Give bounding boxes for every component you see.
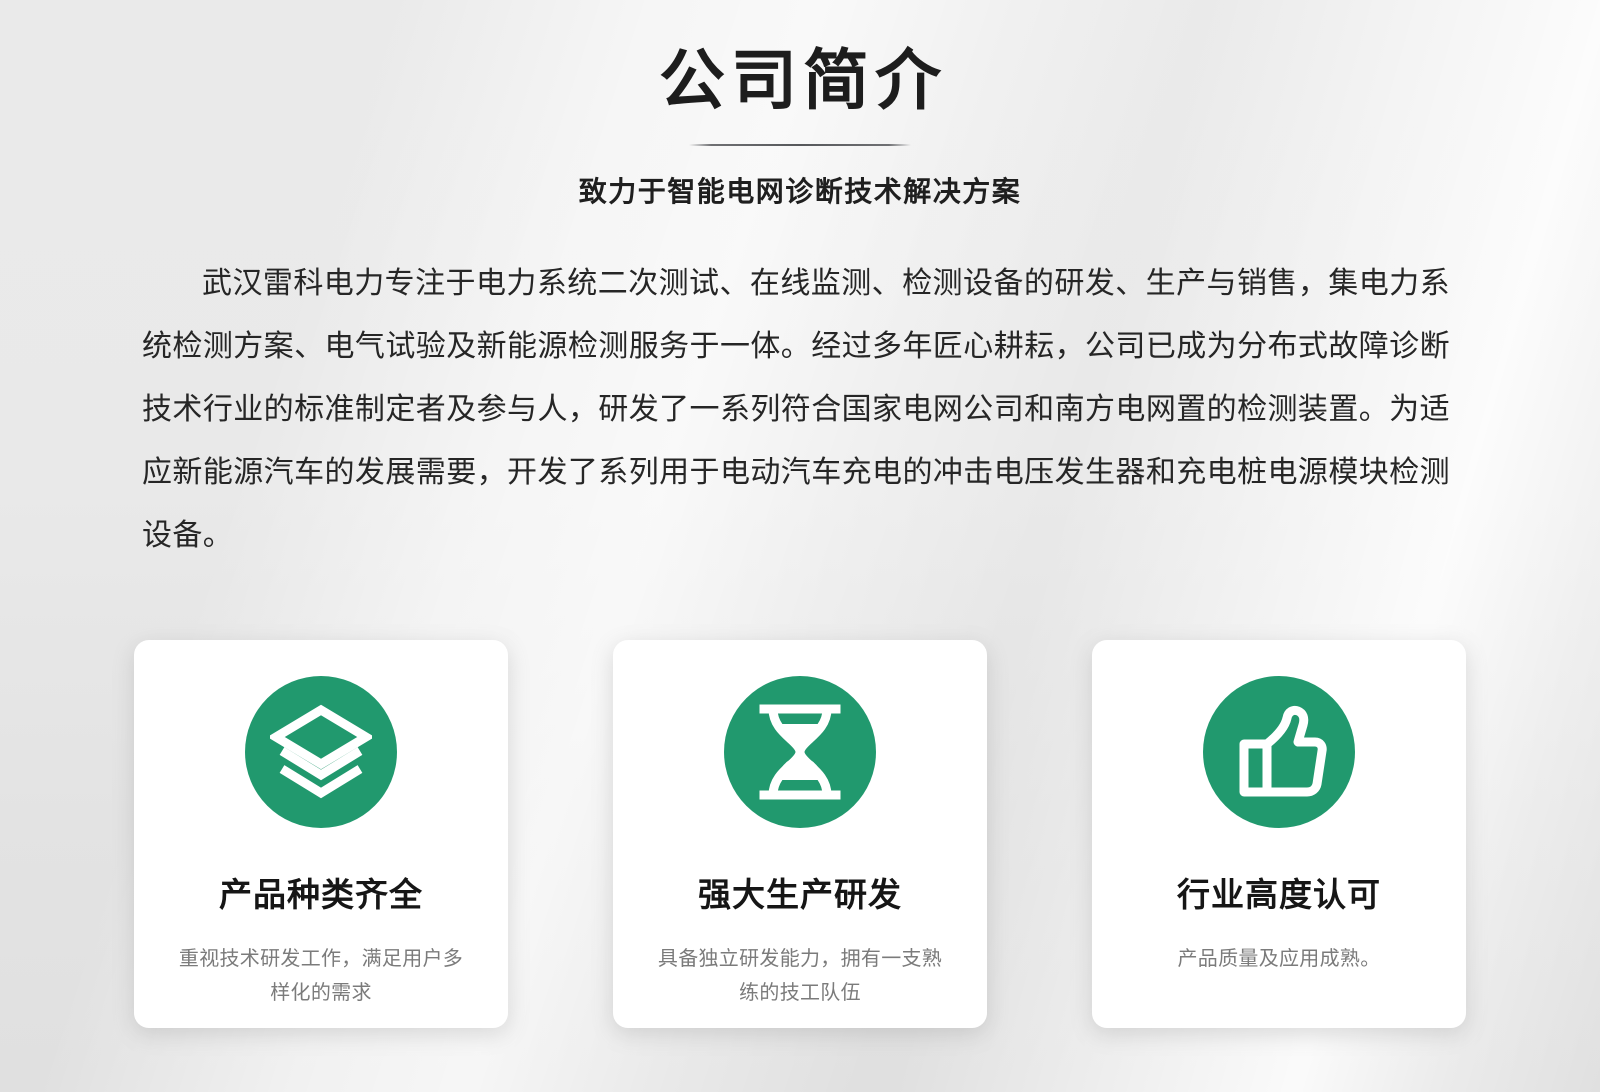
feature-card-title: 强大生产研发	[698, 868, 902, 916]
feature-card-industry-recognition[interactable]: 行业高度认可 产品质量及应用成熟。	[1092, 640, 1466, 1028]
company-intro-page: 公司简介 致力于智能电网诊断技术解决方案 武汉雷科电力专注于电力系统二次测试、在…	[0, 0, 1600, 1092]
feature-card-list: 产品种类齐全 重视技术研发工作，满足用户多样化的需求 强大生产研发 具备独立	[0, 640, 1600, 1028]
feature-card-title: 产品种类齐全	[219, 868, 423, 916]
feature-card-rnd-capability[interactable]: 强大生产研发 具备独立研发能力，拥有一支熟练的技工队伍	[613, 640, 987, 1028]
page-subtitle: 致力于智能电网诊断技术解决方案	[0, 170, 1600, 210]
page-header: 公司简介 致力于智能电网诊断技术解决方案	[0, 0, 1600, 210]
thumbs-up-icon	[1203, 676, 1355, 828]
layers-icon	[245, 676, 397, 828]
feature-card-product-variety[interactable]: 产品种类齐全 重视技术研发工作，满足用户多样化的需求	[134, 640, 508, 1028]
feature-card-description: 重视技术研发工作，满足用户多样化的需求	[171, 942, 471, 1010]
title-divider	[689, 144, 911, 146]
feature-card-title: 行业高度认可	[1177, 868, 1381, 916]
page-title: 公司简介	[0, 46, 1600, 115]
feature-card-description: 产品质量及应用成熟。	[1129, 942, 1429, 976]
hourglass-icon	[724, 676, 876, 828]
company-description-paragraph: 武汉雷科电力专注于电力系统二次测试、在线监测、检测设备的研发、生产与销售，集电力…	[142, 252, 1450, 567]
feature-card-description: 具备独立研发能力，拥有一支熟练的技工队伍	[650, 942, 950, 1010]
